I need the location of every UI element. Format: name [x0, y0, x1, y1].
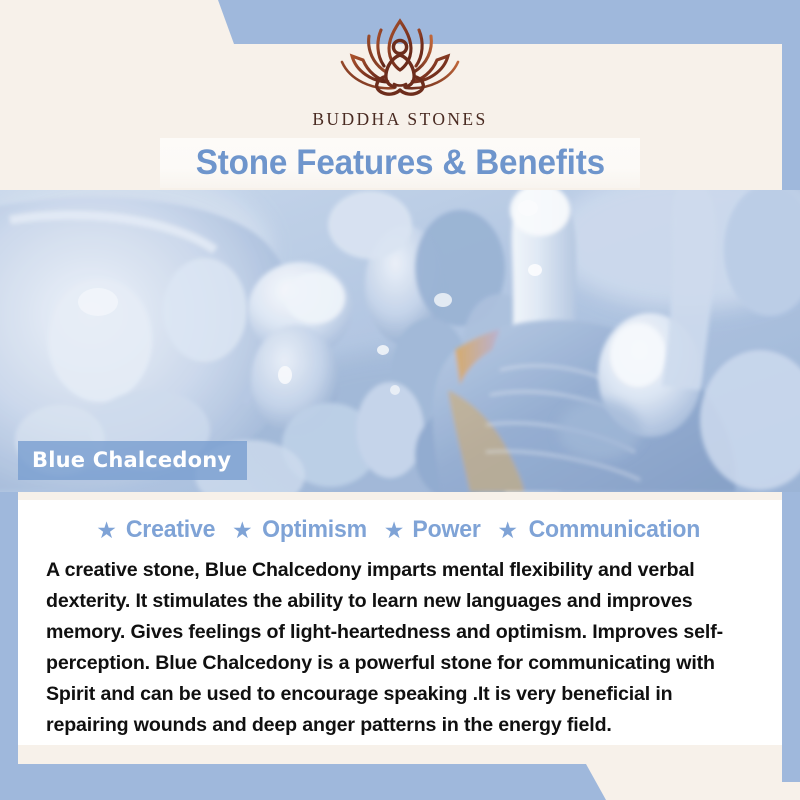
- keyword-item-communication: ★ Communication: [497, 516, 703, 544]
- keyword-label: Optimism: [262, 516, 367, 544]
- stone-name-label: Blue Chalcedony: [18, 441, 247, 480]
- star-icon: ★: [96, 519, 117, 542]
- keyword-label: Creative: [126, 516, 215, 544]
- brand-logo: BUDDHA STONES: [0, 14, 800, 130]
- brand-name: BUDDHA STONES: [312, 109, 487, 130]
- star-icon: ★: [497, 519, 518, 542]
- lotus-meditation-figure-icon: [334, 14, 466, 106]
- section-title-banner: Stone Features & Benefits: [160, 138, 640, 188]
- stone-description: A creative stone, Blue Chalcedony impart…: [32, 555, 768, 741]
- star-icon: ★: [384, 519, 405, 542]
- stone-photo: Blue Chalcedony: [0, 190, 800, 492]
- bottom-blue-band: [0, 764, 606, 800]
- keyword-label: Power: [413, 516, 481, 544]
- keyword-list: ★ Creative ★ Optimism ★ Power ★ Communic…: [32, 516, 768, 544]
- stone-name-text: Blue Chalcedony: [32, 448, 231, 472]
- page-title: Stone Features & Benefits: [195, 143, 604, 183]
- left-blue-strip: [0, 478, 18, 782]
- star-icon: ★: [232, 519, 253, 542]
- keyword-item-creative: ★ Creative: [96, 516, 217, 544]
- content-panel: ★ Creative ★ Optimism ★ Power ★ Communic…: [18, 500, 782, 745]
- page-header: BUDDHA STONES Stone Features & Benefits: [0, 0, 800, 190]
- keyword-item-power: ★ Power: [384, 516, 483, 544]
- keyword-item-optimism: ★ Optimism: [232, 516, 369, 544]
- keyword-label: Communication: [529, 516, 701, 544]
